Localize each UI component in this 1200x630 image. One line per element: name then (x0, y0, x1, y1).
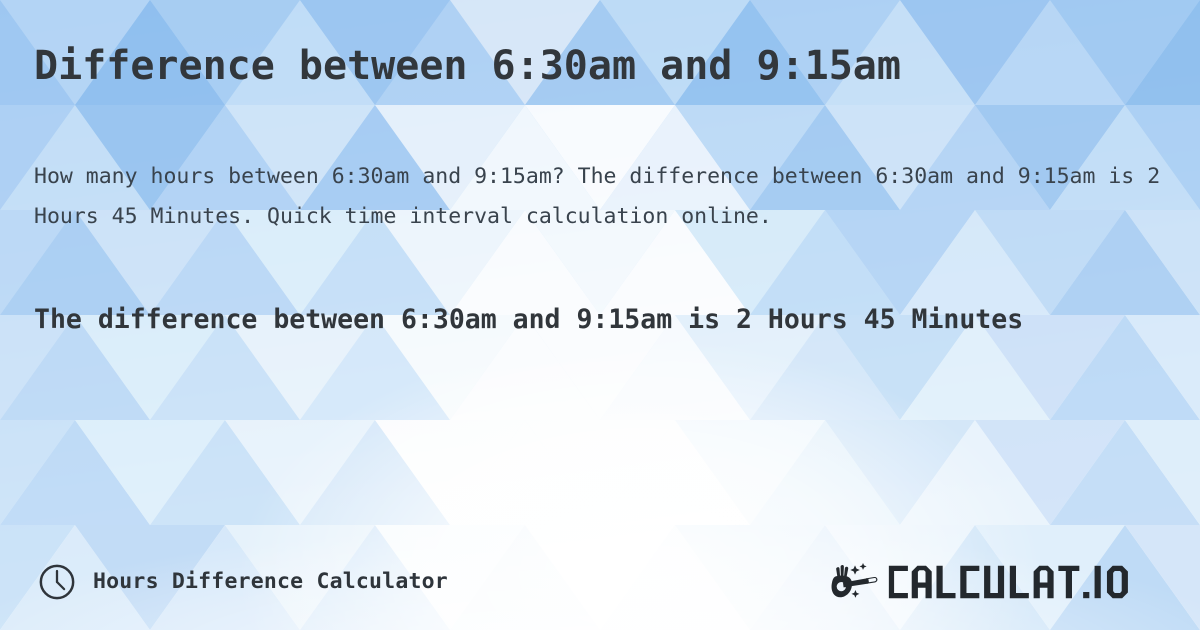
magic-wand-hand-icon (830, 560, 882, 604)
footer-label: Hours Difference Calculator (93, 570, 448, 594)
site-logo[interactable] (830, 560, 1162, 604)
clock-icon (38, 563, 76, 601)
intro-description: How many hours between 6:30am and 9:15am… (34, 90, 1166, 237)
brand-wordmark (886, 562, 1162, 602)
footer-bar: Hours Difference Calculator (0, 534, 1200, 630)
result-heading: The difference between 6:30am and 9:15am… (34, 237, 1139, 342)
footer-brand-left: Hours Difference Calculator (38, 563, 448, 601)
page-title: Difference between 6:30am and 9:15am (34, 0, 1166, 90)
og-image-card: Difference between 6:30am and 9:15am How… (0, 0, 1200, 630)
